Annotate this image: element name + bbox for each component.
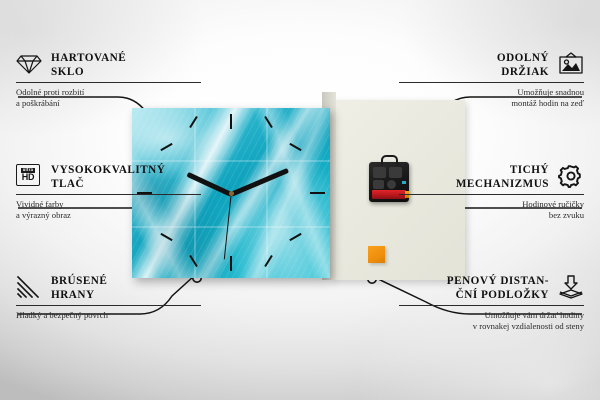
callout-silent-mechanism: TICHÝ MECHANIZMUS Hodinové ručičky bez z… xyxy=(399,164,584,221)
callout-header: BRÚSENÉ HRANY xyxy=(16,275,201,302)
callout-title: BRÚSENÉ HRANY xyxy=(51,275,107,302)
callout-desc-line2: bez zvuku xyxy=(399,210,584,221)
hour-marker-6 xyxy=(230,256,232,271)
callout-divider xyxy=(16,194,201,195)
wall-mount-frame-icon xyxy=(558,52,584,76)
callout-durable-mount: ODOLNÝ DRŽIAK Umožňuje snadnou montáž ho… xyxy=(399,52,584,109)
callout-foam-spacers: PENOVÝ DISTAN- ČNÍ PODLOŽKY Umožňuje vám… xyxy=(399,275,584,332)
callout-title: VYSOKOKVALITNÝ TLAČ xyxy=(51,164,165,191)
mechanism-detail xyxy=(387,180,396,189)
hanging-loop xyxy=(381,155,398,165)
hour-marker-12 xyxy=(230,114,232,129)
callout-hardened-glass: HARTOVANÉ SKLO Odolné proti rozbití a po… xyxy=(16,52,201,109)
callout-divider xyxy=(399,82,584,83)
callout-desc-line1: Vividné farby xyxy=(16,199,201,210)
callout-divider xyxy=(399,305,584,306)
callout-header: HARTOVANÉ SKLO xyxy=(16,52,201,79)
callout-desc-line2: a poškrábání xyxy=(16,98,201,109)
hour-marker-3 xyxy=(310,192,325,194)
callout-title: ODOLNÝ DRŽIAK xyxy=(497,52,549,79)
callout-desc-line2: a výrazný obraz xyxy=(16,210,201,221)
callout-divider xyxy=(16,305,201,306)
callout-header: PENOVÝ DISTAN- ČNÍ PODLOŽKY xyxy=(399,275,584,302)
callout-title: PENOVÝ DISTAN- ČNÍ PODLOŽKY xyxy=(447,275,549,302)
callout-desc-line1: Hladký a bezpečný povrch xyxy=(16,310,201,321)
callout-divider xyxy=(399,194,584,195)
diamond-icon xyxy=(16,52,42,76)
callout-header: ODOLNÝ DRŽIAK xyxy=(399,52,584,79)
beveled-edge-icon xyxy=(16,275,42,299)
infographic-stage: HARTOVANÉ SKLO Odolné proti rozbití a po… xyxy=(0,0,600,400)
mechanism-detail xyxy=(373,180,384,189)
callout-title: HARTOVANÉ SKLO xyxy=(51,52,126,79)
callout-title: TICHÝ MECHANIZMUS xyxy=(456,164,549,191)
hand-hub xyxy=(229,191,234,196)
ultra-hd-badge-icon: ultra HD xyxy=(16,164,42,188)
callout-divider xyxy=(16,82,201,83)
mechanism-detail xyxy=(373,167,386,178)
callout-beveled-edges: BRÚSENÉ HRANY Hladký a bezpečný povrch xyxy=(16,275,201,321)
callout-header: ultra HD VYSOKOKVALITNÝ TLAČ xyxy=(16,164,201,191)
foam-spacer-pad xyxy=(368,246,385,263)
callout-desc-line1: Umožňuje snadnou xyxy=(399,87,584,98)
gear-icon xyxy=(558,164,584,188)
callout-high-quality-print: ultra HD VYSOKOKVALITNÝ TLAČ Vividné far… xyxy=(16,164,201,221)
callout-header: TICHÝ MECHANIZMUS xyxy=(399,164,584,191)
callout-desc-line1: Umožňuje vám držať hodiny xyxy=(399,310,584,321)
foam-spacer-icon xyxy=(558,275,584,299)
callout-desc-line2: montáž hodin na zeď xyxy=(399,98,584,109)
callout-desc-line1: Hodinové ručičky xyxy=(399,199,584,210)
callout-desc-line2: v rovnakej vzdialenosti od steny xyxy=(399,321,584,332)
callout-desc-line1: Odolné proti rozbití xyxy=(16,87,201,98)
hd-label: HD xyxy=(22,173,35,182)
